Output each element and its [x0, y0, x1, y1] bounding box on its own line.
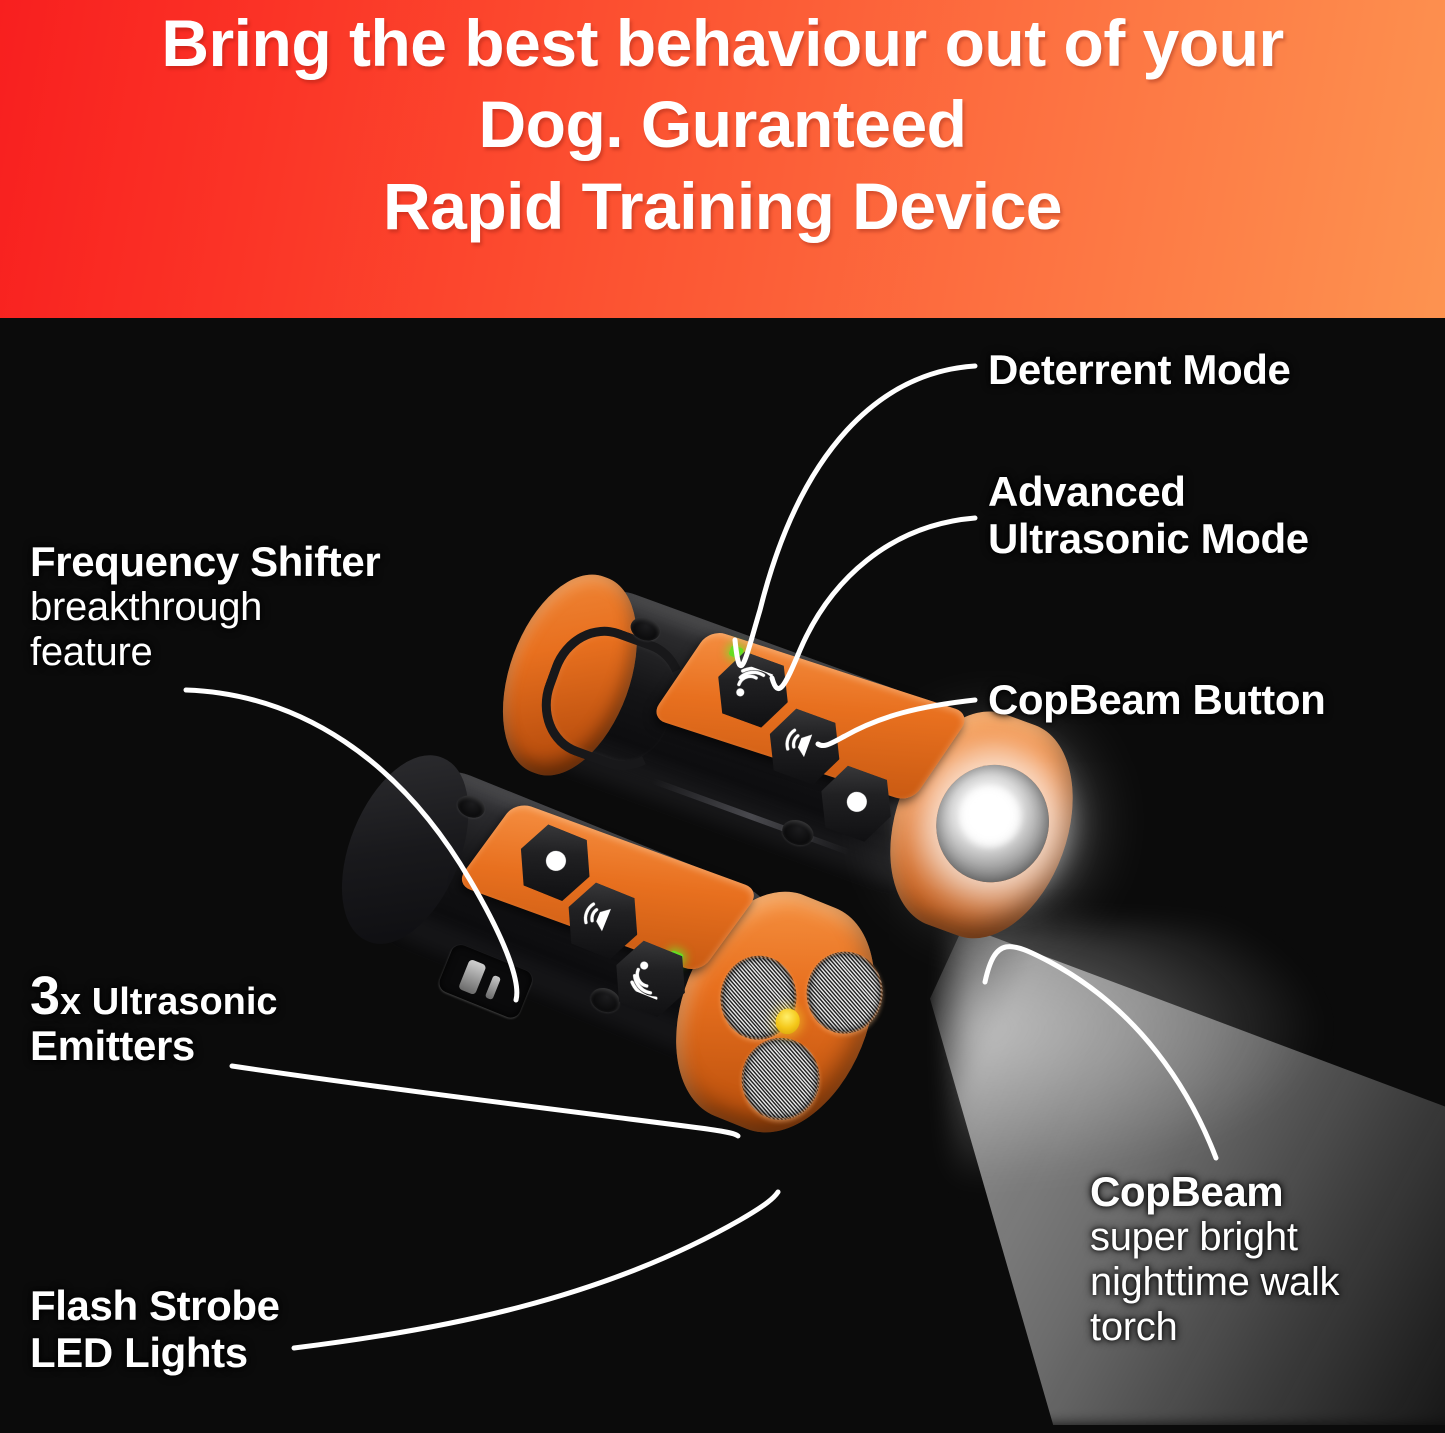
callout-title-rest: Ultrasonic — [81, 981, 277, 1023]
callout-title: Frequency Shifter — [30, 538, 380, 585]
callout-frequency-shifter: Frequency Shifter breakthrough feature — [30, 538, 380, 675]
headline-line-1: Bring the best behaviour out of your — [161, 10, 1283, 77]
callout-title-line-2: LED Lights — [30, 1329, 280, 1376]
callout-desc-line-2: nighttime walk — [1090, 1260, 1339, 1305]
headline-line-2: Dog. Guranteed — [478, 91, 966, 158]
ultrasonic-waves-icon — [726, 662, 780, 717]
callout-advanced-ultrasonic-mode: Advanced Ultrasonic Mode — [988, 468, 1309, 562]
speaker-sound-icon — [777, 719, 831, 774]
product-infographic: Bring the best behaviour out of your Dog… — [0, 0, 1445, 1433]
emitter-multiplier: x — [60, 981, 81, 1023]
callout-copbeam-description: CopBeam super bright nighttime walk torc… — [1090, 1168, 1339, 1349]
callout-title-line-2: Ultrasonic Mode — [988, 515, 1309, 562]
callout-title: CopBeam Button — [988, 676, 1325, 723]
callout-ultrasonic-emitters: 3x Ultrasonic Emitters — [30, 972, 278, 1069]
speaker-sound-icon — [575, 893, 630, 949]
callout-desc-line-2: feature — [30, 630, 380, 675]
callout-desc-line-1: super bright — [1090, 1215, 1339, 1260]
callout-flash-strobe-led-lights: Flash Strobe LED Lights — [30, 1282, 280, 1376]
emitter-count: 3 — [30, 966, 60, 1026]
callout-desc-line-3: torch — [1090, 1305, 1339, 1350]
callout-title-line-1: Advanced — [988, 468, 1309, 515]
callout-copbeam-button: CopBeam Button — [988, 676, 1325, 723]
callout-title-line-2: Emitters — [30, 1022, 278, 1069]
callout-title-line-1: 3x Ultrasonic — [30, 966, 278, 1026]
light-circle-icon — [829, 776, 883, 831]
callout-desc-line-1: breakthrough — [30, 585, 380, 630]
light-circle-icon — [528, 835, 583, 891]
callout-title: CopBeam — [1090, 1168, 1339, 1215]
ultrasonic-waves-icon — [623, 951, 678, 1007]
headline-line-3: Rapid Training Device — [383, 173, 1062, 240]
callout-title-line-1: Flash Strobe — [30, 1282, 280, 1329]
callout-title: Deterrent Mode — [988, 346, 1290, 393]
callout-deterrent-mode: Deterrent Mode — [988, 346, 1290, 393]
header-banner: Bring the best behaviour out of your Dog… — [0, 0, 1445, 318]
